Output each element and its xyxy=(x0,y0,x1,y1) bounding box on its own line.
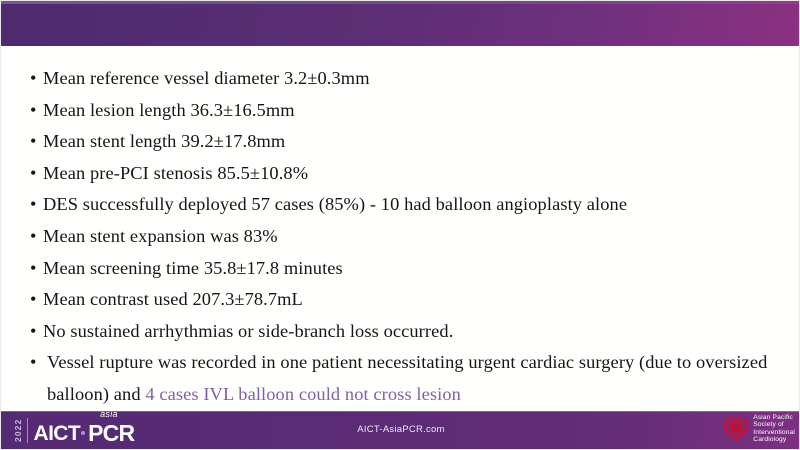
bullet-icon: • xyxy=(30,126,37,158)
apsic-logo: Asian Pacific Society of Interventional … xyxy=(723,414,795,444)
apsic-line: Cardiology xyxy=(753,436,795,443)
apsic-line: Society of xyxy=(753,421,795,428)
list-item: • DES successfully deployed 57 cases (85… xyxy=(31,189,783,221)
list-item-text: Mean lesion length 36.3±16.5mm xyxy=(43,100,295,120)
list-item-text: No sustained arrhythmias or side-branch … xyxy=(43,321,453,341)
list-item: • Mean pre-PCI stenosis 85.5±10.8% xyxy=(31,158,783,190)
list-item-text: Mean reference vessel diameter 3.2±0.3mm xyxy=(43,68,370,88)
footer-bar: 2022 AICT asia PCR AICT-AsiaPCR.com Asia… xyxy=(1,411,800,449)
bullet-icon: • xyxy=(30,316,37,348)
apsic-line: Interventional xyxy=(753,429,795,436)
slide-body: • Mean reference vessel diameter 3.2±0.3… xyxy=(1,46,800,413)
list-item: • Mean stent length 39.2±17.8mm xyxy=(31,126,783,158)
bullet-icon: • xyxy=(30,158,37,190)
list-item-text: Mean stent length 39.2±17.8mm xyxy=(43,131,285,151)
banner-highlight-line xyxy=(1,1,800,4)
list-item: • No sustained arrhythmias or side-branc… xyxy=(31,316,783,348)
footer-divider xyxy=(1,411,800,412)
list-item: • Mean reference vessel diameter 3.2±0.3… xyxy=(31,63,783,95)
logo-asia-text: asia xyxy=(100,410,118,419)
list-item-text: DES successfully deployed 57 cases (85%)… xyxy=(43,194,627,214)
list-item-text: Mean stent expansion was 83% xyxy=(43,226,278,246)
list-item: • Mean screening time 35.8±17.8 minutes xyxy=(31,253,783,285)
top-banner xyxy=(1,1,800,46)
slide: • Mean reference vessel diameter 3.2±0.3… xyxy=(0,0,800,450)
list-item: • Mean stent expansion was 83% xyxy=(31,221,783,253)
bullet-icon: • xyxy=(30,253,37,285)
bullet-icon: • xyxy=(30,95,37,127)
list-item-text: Mean screening time 35.8±17.8 minutes xyxy=(43,258,343,278)
list-item-text: Mean contrast used 207.3±78.7mL xyxy=(43,289,303,309)
bullet-icon: • xyxy=(30,347,37,379)
bullet-list: • Mean reference vessel diameter 3.2±0.3… xyxy=(1,46,800,411)
list-item: • Mean contrast used 207.3±78.7mL xyxy=(31,284,783,316)
apsic-society-name: Asian Pacific Society of Interventional … xyxy=(753,414,795,444)
list-item-highlighted: • Vessel rupture was recorded in one pat… xyxy=(31,347,783,410)
footer-url: AICT-AsiaPCR.com xyxy=(1,424,800,435)
highlighted-text: 4 cases IVL balloon could not cross lesi… xyxy=(145,384,461,404)
bullet-icon: • xyxy=(30,189,37,221)
bullet-icon: • xyxy=(30,221,37,253)
heart-icon xyxy=(723,417,749,441)
apsic-line: Asian Pacific xyxy=(753,414,795,421)
bullet-icon: • xyxy=(30,284,37,316)
list-item: • Mean lesion length 36.3±16.5mm xyxy=(31,95,783,127)
list-item-text: Mean pre-PCI stenosis 85.5±10.8% xyxy=(43,163,308,183)
bullet-icon: • xyxy=(30,63,37,95)
